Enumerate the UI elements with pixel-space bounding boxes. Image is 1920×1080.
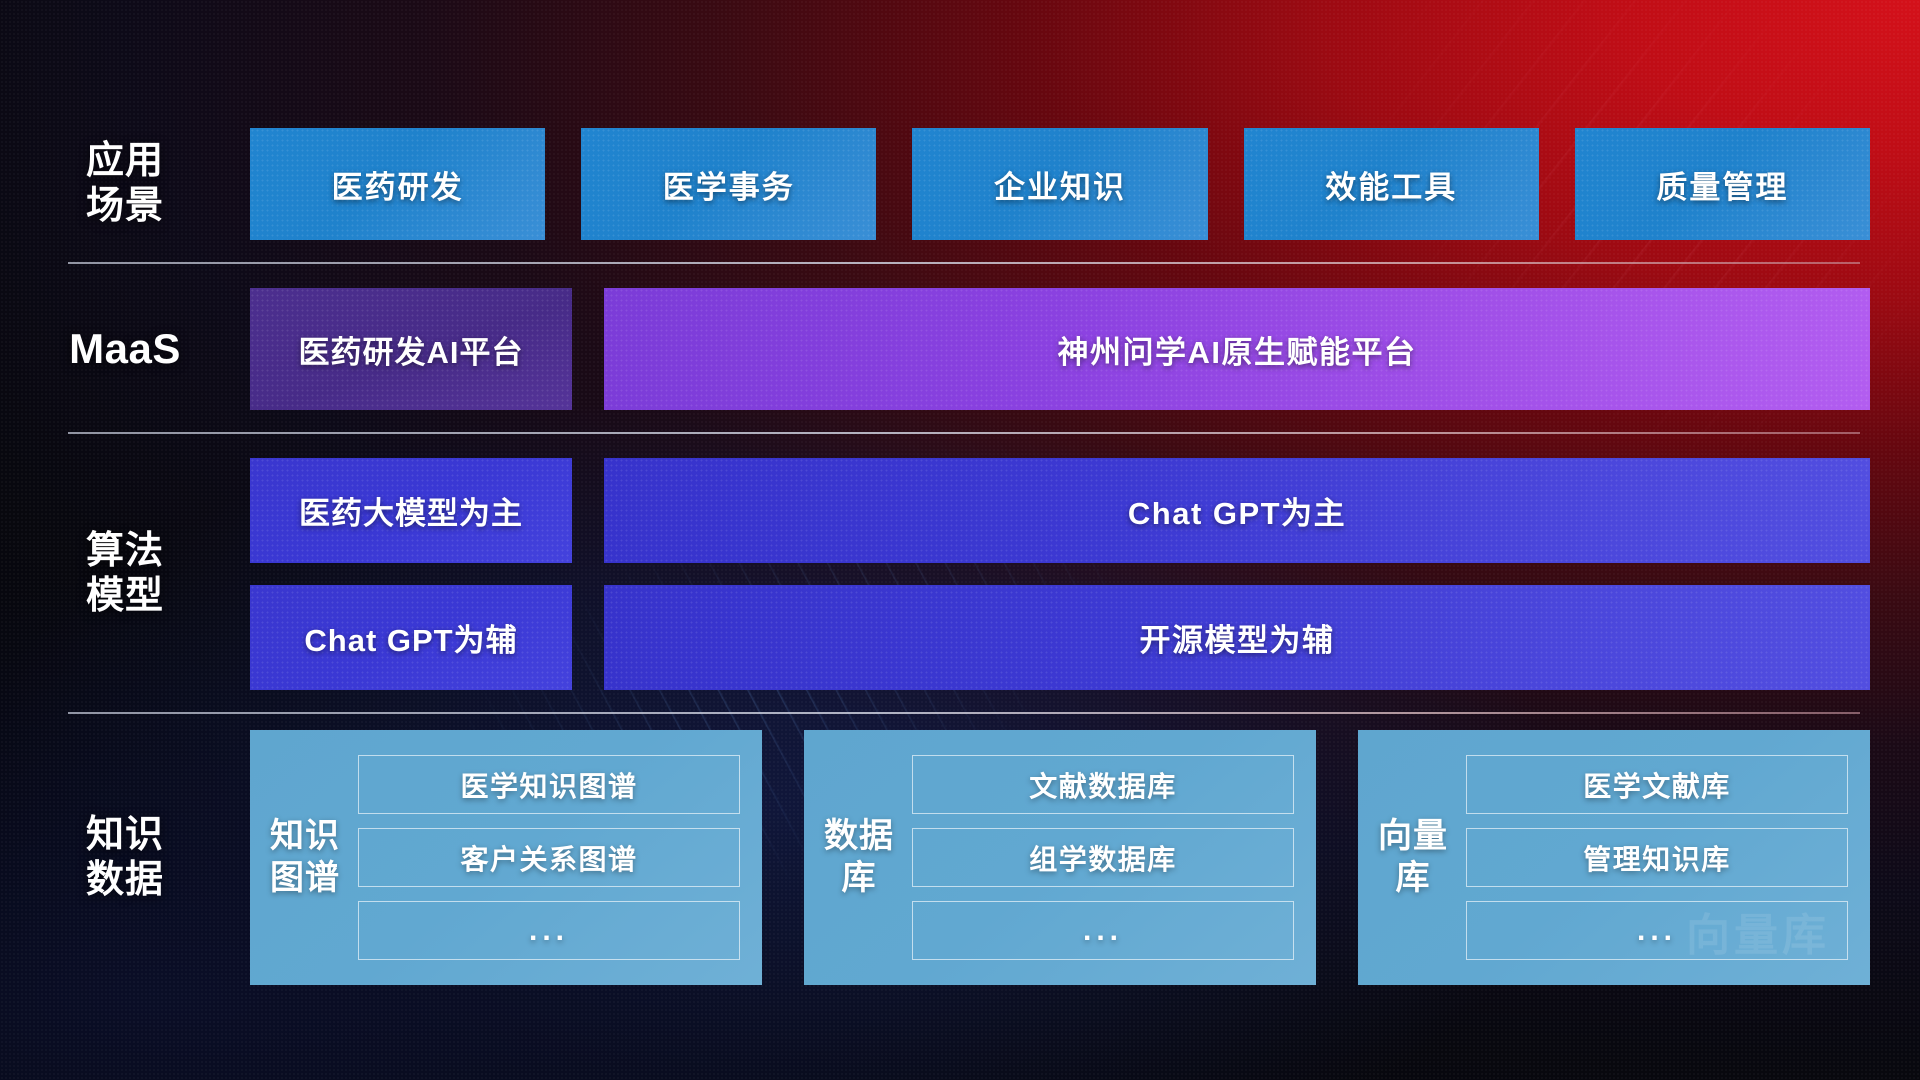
algo-box-label: Chat GPT为辅 — [304, 615, 517, 660]
maas-box-shenzhou-wenxue-platform[interactable]: 神州问学AI原生赋能平台 — [604, 288, 1870, 410]
knowledge-group-title: 向量库 — [1376, 816, 1450, 899]
diagram-canvas: 应用 场景 医药研发 医学事务 企业知识 效能工具 — [0, 0, 1920, 1080]
app-box-quality-management[interactable]: 质量管理 — [1575, 128, 1870, 240]
algorithm-line-secondary: Chat GPT为辅 开源模型为辅 — [250, 585, 1870, 690]
maas-box-label: 医药研发AI平台 — [299, 327, 524, 372]
knowledge-group-database[interactable]: 数据库 文献数据库 组学数据库 ... — [804, 730, 1316, 985]
knowledge-item-literature-database[interactable]: 文献数据库 — [912, 755, 1294, 814]
app-box-drug-rd[interactable]: 医药研发 — [250, 128, 545, 240]
algorithm-box-list: 医药大模型为主 Chat GPT为主 Chat GPT为辅 开源模型为辅 — [250, 458, 1920, 690]
knowledge-group-knowledge-graph[interactable]: 知识图谱 医学知识图谱 客户关系图谱 ... — [250, 730, 762, 985]
knowledge-item-more[interactable]: ... — [912, 901, 1294, 960]
knowledge-item-management-knowledge-store[interactable]: 管理知识库 — [1466, 828, 1848, 887]
row-knowledge-data: 知识 数据 知识图谱 医学知识图谱 客户关系图谱 ... 数据库 — [0, 730, 1920, 985]
knowledge-item-medical-literature-store[interactable]: 医学文献库 — [1466, 755, 1848, 814]
knowledge-item-list: 医学知识图谱 客户关系图谱 ... — [358, 755, 740, 960]
algo-box-opensource-secondary[interactable]: 开源模型为辅 — [604, 585, 1870, 690]
knowledge-item-more[interactable]: ... — [358, 901, 740, 960]
row-label-knowledge-data: 知识 数据 — [0, 813, 250, 903]
algo-box-label: 医药大模型为主 — [299, 488, 523, 533]
knowledge-item-omics-database[interactable]: 组学数据库 — [912, 828, 1294, 887]
knowledge-group-vector-store[interactable]: 向量库 医学文献库 管理知识库 ... 向量库 — [1358, 730, 1870, 985]
row-maas: MaaS 医药研发AI平台 神州问学AI原生赋能平台 — [0, 288, 1920, 410]
row-label-maas: MaaS — [0, 324, 250, 374]
row-label-algorithm-models: 算法 模型 — [0, 529, 250, 619]
row-algorithm-models: 算法 模型 医药大模型为主 Chat GPT为主 Chat GPT为 — [0, 458, 1920, 690]
algo-box-medical-llm-primary[interactable]: 医药大模型为主 — [250, 458, 572, 563]
maas-box-list: 医药研发AI平台 神州问学AI原生赋能平台 — [250, 288, 1920, 410]
algo-box-label: Chat GPT为主 — [1128, 488, 1346, 533]
knowledge-item-customer-relation-graph[interactable]: 客户关系图谱 — [358, 828, 740, 887]
algo-box-chatgpt-primary[interactable]: Chat GPT为主 — [604, 458, 1870, 563]
maas-box-drug-rd-ai-platform[interactable]: 医药研发AI平台 — [250, 288, 572, 410]
knowledge-item-list: 文献数据库 组学数据库 ... — [912, 755, 1294, 960]
app-box-label: 企业知识 — [994, 162, 1126, 207]
application-box-list: 医药研发 医学事务 企业知识 效能工具 质量管理 — [250, 128, 1920, 240]
app-box-label: 医药研发 — [332, 162, 464, 207]
algo-box-chatgpt-secondary[interactable]: Chat GPT为辅 — [250, 585, 572, 690]
app-box-enterprise-knowledge[interactable]: 企业知识 — [912, 128, 1207, 240]
knowledge-item-list: 医学文献库 管理知识库 ... — [1466, 755, 1848, 960]
maas-box-label: 神州问学AI原生赋能平台 — [1058, 327, 1417, 372]
knowledge-group-title: 知识图谱 — [268, 816, 342, 899]
divider-apps-maas — [68, 262, 1860, 264]
knowledge-group-list: 知识图谱 医学知识图谱 客户关系图谱 ... 数据库 文献数据库 组学数据库 .… — [250, 730, 1920, 985]
app-box-medical-affairs[interactable]: 医学事务 — [581, 128, 876, 240]
knowledge-group-title: 数据库 — [822, 816, 896, 899]
app-box-label: 医学事务 — [663, 162, 795, 207]
row-application-scenarios: 应用 场景 医药研发 医学事务 企业知识 效能工具 — [0, 128, 1920, 240]
knowledge-item-medical-knowledge-graph[interactable]: 医学知识图谱 — [358, 755, 740, 814]
app-box-label: 质量管理 — [1656, 162, 1788, 207]
knowledge-item-more[interactable]: ... — [1466, 901, 1848, 960]
algo-box-label: 开源模型为辅 — [1140, 615, 1335, 660]
app-box-label: 效能工具 — [1325, 162, 1457, 207]
divider-algorithm-knowledge — [68, 712, 1860, 714]
algorithm-line-primary: 医药大模型为主 Chat GPT为主 — [250, 458, 1870, 563]
row-label-application-scenarios: 应用 场景 — [0, 139, 250, 229]
app-box-efficiency-tools[interactable]: 效能工具 — [1244, 128, 1539, 240]
divider-maas-algorithm — [68, 432, 1860, 434]
